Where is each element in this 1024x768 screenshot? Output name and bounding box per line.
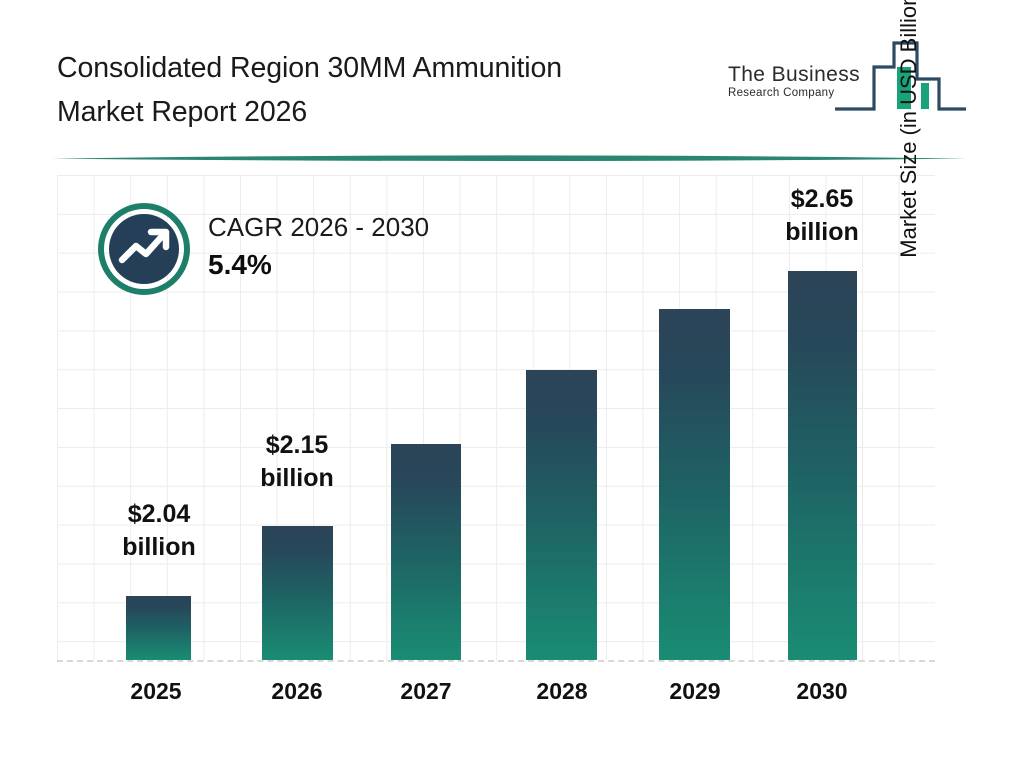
bar-value-amount-2026: $2.15 bbox=[234, 429, 360, 462]
x-tick-2026: 2026 bbox=[234, 678, 360, 705]
x-tick-2028: 2028 bbox=[499, 678, 625, 705]
bar-2029[interactable] bbox=[659, 309, 730, 660]
bar-2030[interactable] bbox=[788, 271, 857, 660]
bar-value-label-2030: $2.65 billion bbox=[759, 183, 885, 249]
x-tick-2030: 2030 bbox=[759, 678, 885, 705]
bar-2027[interactable] bbox=[391, 444, 461, 660]
x-tick-2025: 2025 bbox=[93, 678, 219, 705]
y-axis-label: Market Size (in USD Billion) bbox=[889, 0, 929, 312]
trending-up-icon bbox=[98, 203, 190, 295]
bar-value-amount-2025: $2.04 bbox=[96, 498, 222, 531]
bar-value-amount-2030: $2.65 bbox=[759, 183, 885, 216]
bar-2028[interactable] bbox=[526, 370, 597, 660]
x-tick-2029: 2029 bbox=[632, 678, 758, 705]
bar-value-unit-2025: billion bbox=[96, 531, 222, 564]
bar-value-label-2026: $2.15 billion bbox=[234, 429, 360, 495]
cagr-text-block: CAGR 2026 - 2030 5.4% bbox=[208, 209, 429, 285]
chart-baseline bbox=[57, 660, 935, 662]
bar-value-unit-2026: billion bbox=[234, 462, 360, 495]
market-size-bar-chart: $2.04 billion $2.15 billion $2.65 billio… bbox=[0, 0, 1024, 768]
cagr-value: 5.4% bbox=[208, 245, 429, 285]
bar-2025[interactable] bbox=[126, 596, 191, 660]
cagr-badge: CAGR 2026 - 2030 5.4% bbox=[98, 203, 498, 303]
bar-value-label-2025: $2.04 billion bbox=[96, 498, 222, 564]
x-tick-2027: 2027 bbox=[363, 678, 489, 705]
cagr-period-label: CAGR 2026 - 2030 bbox=[208, 209, 429, 245]
bar-value-unit-2030: billion bbox=[759, 216, 885, 249]
bar-2026[interactable] bbox=[262, 526, 333, 660]
